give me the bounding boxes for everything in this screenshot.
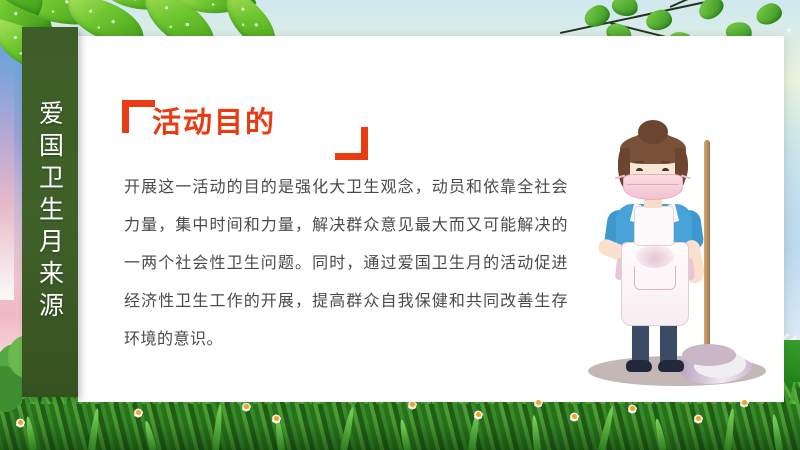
grass-blade bbox=[212, 404, 224, 450]
eye-right bbox=[662, 168, 669, 171]
grass-blade bbox=[398, 419, 411, 450]
grass-blade bbox=[340, 406, 356, 450]
daisy-icon bbox=[690, 410, 707, 427]
daisy-icon bbox=[268, 410, 285, 427]
apron-flower-motif bbox=[636, 244, 674, 268]
mop-handle-icon bbox=[704, 140, 710, 352]
shoe-right bbox=[658, 360, 684, 372]
bracket-top-left-icon bbox=[122, 100, 155, 133]
sidebar-vertical-title: 爱国卫生月来源 bbox=[38, 100, 63, 324]
leaf-icon bbox=[645, 8, 674, 31]
grass-blade bbox=[653, 418, 667, 450]
body-paragraph: 开展这一活动的目的是强化大卫生观念，动员和依靠全社会力量，集中时间和力量，解决群… bbox=[124, 168, 568, 358]
slide-canvas: ✦ ✦ ✦ bbox=[0, 0, 800, 450]
apron-pocket bbox=[634, 266, 676, 290]
shoe-left bbox=[626, 360, 652, 372]
grass-blade bbox=[143, 420, 157, 450]
grass-blade bbox=[530, 415, 541, 450]
daisy-icon bbox=[470, 406, 487, 423]
bracket-bottom-right-icon bbox=[335, 127, 368, 160]
sidebar-banner: 爱国卫生月来源 bbox=[22, 27, 78, 397]
eye-left bbox=[636, 168, 643, 171]
cleaning-woman-illustration bbox=[582, 118, 778, 390]
grass-blade bbox=[88, 408, 101, 450]
body-text-block: 开展这一活动的目的是强化大卫生观念，动员和依靠全社会力量，集中时间和力量，解决群… bbox=[124, 168, 568, 358]
page-title: 活动目的 bbox=[152, 104, 276, 142]
apron-bib bbox=[634, 206, 674, 246]
eyebrow-left bbox=[635, 161, 644, 163]
daisy-icon bbox=[12, 414, 29, 431]
mask-fold-line bbox=[627, 184, 679, 185]
grass-blade bbox=[770, 414, 783, 450]
eyebrow-right bbox=[661, 161, 670, 163]
daisy-icon bbox=[624, 400, 641, 417]
daisy-icon bbox=[566, 408, 583, 425]
sparkle-icon: ✦ bbox=[786, 28, 792, 35]
grass-blade bbox=[724, 408, 736, 450]
grass-blade bbox=[598, 405, 616, 450]
hair-bun bbox=[638, 120, 668, 144]
daisy-icon bbox=[130, 404, 147, 421]
leaf-icon bbox=[754, 1, 785, 27]
mop-head-icon bbox=[682, 344, 736, 366]
face-mask-icon bbox=[623, 174, 683, 200]
section-title-group: 活动目的 bbox=[122, 100, 342, 156]
